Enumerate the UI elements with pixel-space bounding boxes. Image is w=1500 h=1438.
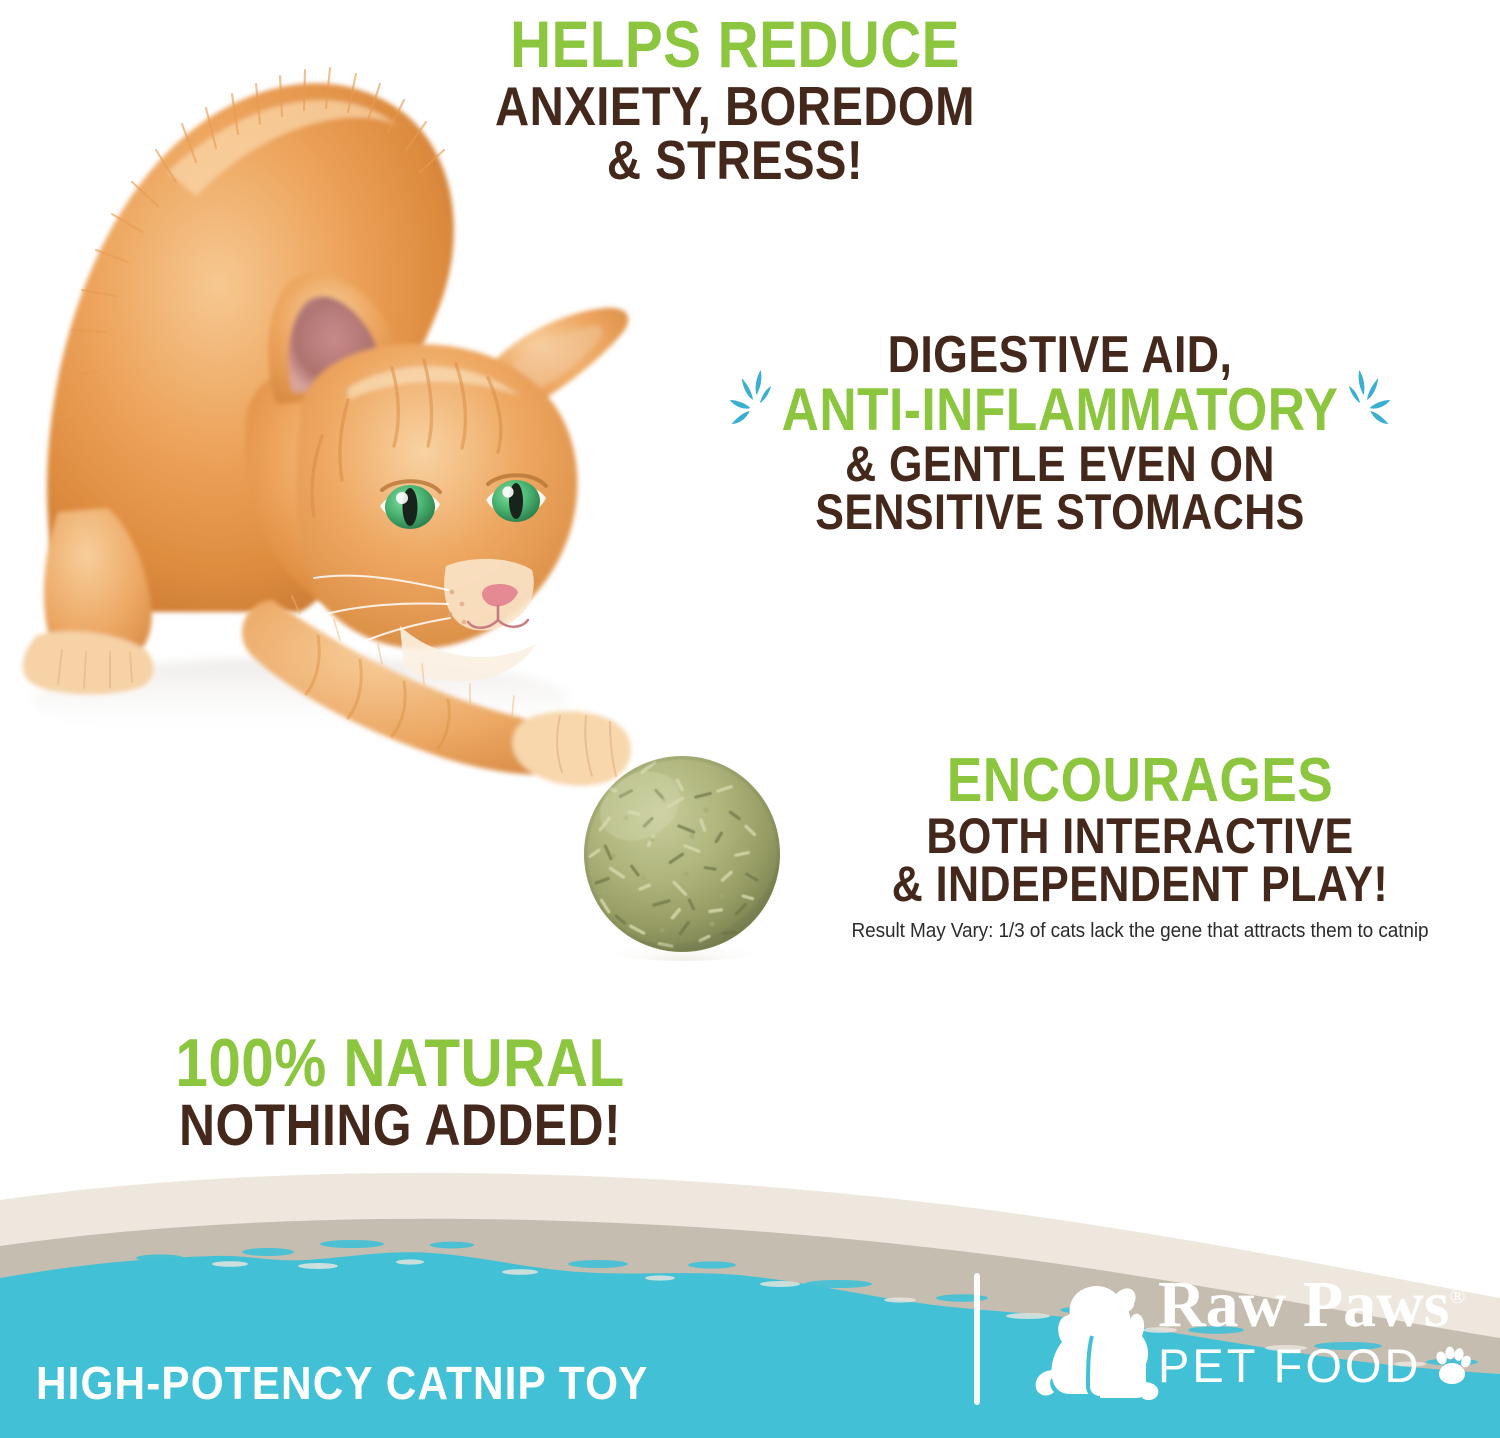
helps-reduce-line3: & STRESS! <box>460 135 1010 186</box>
product-feature-poster: HELPS REDUCE ANXIETY, BOREDOM & STRESS! … <box>0 0 1500 1438</box>
brand-name-text: Raw Paws® <box>1158 1272 1470 1338</box>
digestive-line2-text: ANTI-INFLAMMATORY <box>782 376 1339 443</box>
benefit-encourages-play: ENCOURAGES BOTH INTERACTIVE & INDEPENDEN… <box>800 752 1480 943</box>
benefit-digestive-aid: DIGESTIVE AID, ANTI-INFLAMMATORY <box>660 332 1460 535</box>
paw-print-icon <box>1431 1345 1473 1387</box>
brand-subtitle-label: PET FOOD <box>1158 1342 1421 1389</box>
brand-wordmark: Raw Paws® PET FOOD <box>1158 1272 1470 1389</box>
dog-cat-silhouette-icon <box>1030 1274 1162 1406</box>
brand-subtitle-row: PET FOOD <box>1158 1342 1470 1389</box>
encourages-line2: BOTH INTERACTIVE <box>848 813 1433 859</box>
catnip-ball-image <box>574 748 790 964</box>
encourages-line1: ENCOURAGES <box>848 752 1433 809</box>
benefit-helps-reduce: HELPS REDUCE ANXIETY, BOREDOM & STRESS! <box>415 14 1055 186</box>
encourages-line3: & INDEPENDENT PLAY! <box>848 861 1433 907</box>
catnip-disclaimer-text: Result May Vary: 1/3 of cats lack the ge… <box>817 920 1463 943</box>
brand-name-label: Raw Paws <box>1158 1268 1450 1341</box>
digestive-line1: DIGESTIVE AID, <box>716 332 1404 380</box>
banner-tagline: HIGH-POTENCY CATNIP TOY <box>36 1356 648 1410</box>
helps-reduce-line2: ANXIETY, BOREDOM <box>460 81 1010 132</box>
digestive-line3: & GENTLE EVEN ON <box>716 441 1404 487</box>
digestive-line4: SENSITIVE STOMACHS <box>716 489 1404 535</box>
helps-reduce-line1: HELPS REDUCE <box>460 14 1010 75</box>
banner-divider <box>974 1273 980 1405</box>
benefit-100-percent-natural: 100% NATURAL NOTHING ADDED! <box>100 1032 700 1152</box>
natural-line1: 100% NATURAL <box>142 1032 658 1095</box>
brand-logo-lockup: Raw Paws® PET FOOD <box>1030 1266 1470 1416</box>
registered-trademark-icon: ® <box>1450 1284 1466 1308</box>
digestive-line2: ANTI-INFLAMMATORY <box>716 382 1404 437</box>
